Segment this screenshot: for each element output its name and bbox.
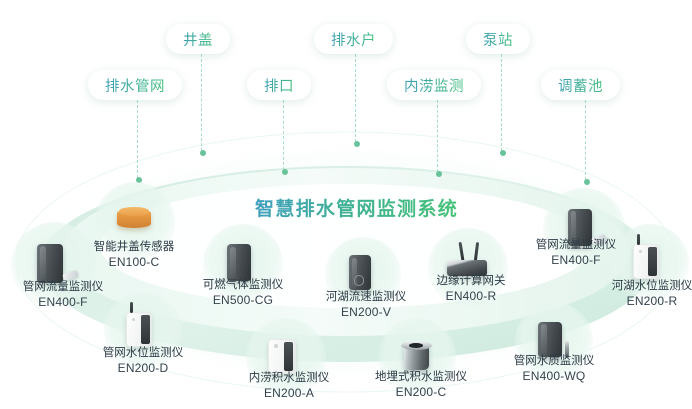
device-caption: 河湖流速监测仪EN200-V [310, 290, 422, 320]
device-model: EN200-D [88, 361, 198, 376]
scene-tag-label: 泵站 [483, 29, 513, 50]
connector-dot-5 [500, 150, 506, 156]
connector-dot-1 [200, 150, 206, 156]
device-body [126, 312, 153, 346]
device-antenna [474, 242, 479, 261]
device-antenna [459, 242, 465, 261]
device-model: EN100-C [79, 255, 189, 270]
device-name: 边缘计算网关 [437, 275, 506, 287]
device-name: 河湖流速监测仪 [326, 291, 407, 303]
device-model: EN200-C [358, 385, 484, 400]
device-led [274, 344, 278, 348]
scene-tag-label: 内涝监测 [404, 75, 464, 96]
device-model: EN400-R [415, 289, 527, 304]
connector-line-0 [137, 100, 139, 178]
connector-line-5 [501, 54, 503, 151]
device-caption: 管网水质监测仪EN400-WQ [497, 354, 611, 384]
device-caption: 地埋式积水监测仪EN200-C [358, 370, 484, 400]
device-panel [648, 247, 657, 275]
device-caption: 河湖水位监测仪EN200-R [597, 279, 692, 309]
connector-line-4 [437, 100, 439, 172]
device-antenna [637, 234, 640, 245]
device-caption: 智能井盖传感器EN100-C [79, 240, 189, 270]
device-name: 地埋式积水监测仪 [375, 371, 467, 383]
device-model: EN400-WQ [497, 369, 611, 384]
scene-tag-0[interactable]: 排水管网 [88, 70, 182, 100]
device-body [633, 244, 660, 278]
device-name: 管网水位监测仪 [103, 347, 184, 359]
device-panel [141, 315, 150, 343]
device-antenna [130, 302, 133, 313]
device-body [37, 244, 63, 284]
connector-dot-4 [436, 171, 442, 177]
device-lens [354, 275, 365, 286]
scene-tag-3[interactable]: 排水户 [314, 24, 393, 54]
device-model: EN200-R [597, 294, 692, 309]
device-panel [284, 342, 294, 371]
device-led [132, 318, 135, 321]
device-caption: 内涝积水监测仪EN200-A [230, 371, 348, 401]
device-name: 可燃气体监测仪 [203, 279, 284, 291]
scene-tag-label: 排口 [264, 75, 294, 96]
device-name: 管网流量监测仪 [23, 281, 104, 293]
scene-tag-label: 井盖 [183, 29, 213, 50]
device-body [268, 339, 295, 374]
device-name: 管网水质监测仪 [514, 355, 595, 367]
device-caption: 可燃气体监测仪EN500-CG [188, 278, 298, 308]
device-name: 河湖水位监测仪 [612, 280, 692, 292]
page-title: 智慧排水管网监测系统 [255, 194, 458, 221]
connector-dot-3 [354, 141, 360, 147]
scene-tag-4[interactable]: 内涝监测 [387, 70, 481, 100]
connector-dot-6 [584, 179, 590, 185]
scene-tag-6[interactable]: 调蓄池 [541, 70, 620, 100]
connector-line-3 [355, 54, 357, 142]
scene-tag-label: 排水户 [331, 29, 376, 50]
device-model: EN500-CG [188, 293, 298, 308]
device-model: EN200-A [230, 386, 348, 401]
device-body [538, 322, 561, 358]
device-body [117, 209, 151, 228]
connector-line-6 [585, 100, 587, 180]
device-body [227, 244, 251, 281]
connector-line-2 [283, 100, 285, 170]
device-name: 内涝积水监测仪 [249, 372, 330, 384]
device-caption: 边缘计算网关EN400-R [415, 274, 527, 304]
scene-tag-label: 排水管网 [105, 75, 165, 96]
scene-tag-label: 调蓄池 [558, 75, 603, 96]
device-led [639, 250, 642, 253]
device-name: 智能井盖传感器 [94, 241, 175, 253]
diagram-canvas: 排水管网井盖排口排水户内涝监测泵站调蓄池 智慧排水管网监测系统 管网流量监测仪E… [0, 0, 692, 409]
device-caption: 管网水位监测仪EN200-D [88, 346, 198, 376]
device-body [404, 344, 429, 371]
scene-tag-2[interactable]: 排口 [247, 70, 311, 100]
scene-tag-1[interactable]: 井盖 [166, 24, 230, 54]
connector-dot-2 [282, 169, 288, 175]
device-model: EN400-F [8, 295, 118, 310]
device-name: 管网流量监测仪 [536, 239, 617, 251]
device-caption: 管网流量监测仪EN400-F [8, 280, 118, 310]
scene-tag-5[interactable]: 泵站 [466, 24, 530, 54]
connector-line-1 [201, 54, 203, 151]
